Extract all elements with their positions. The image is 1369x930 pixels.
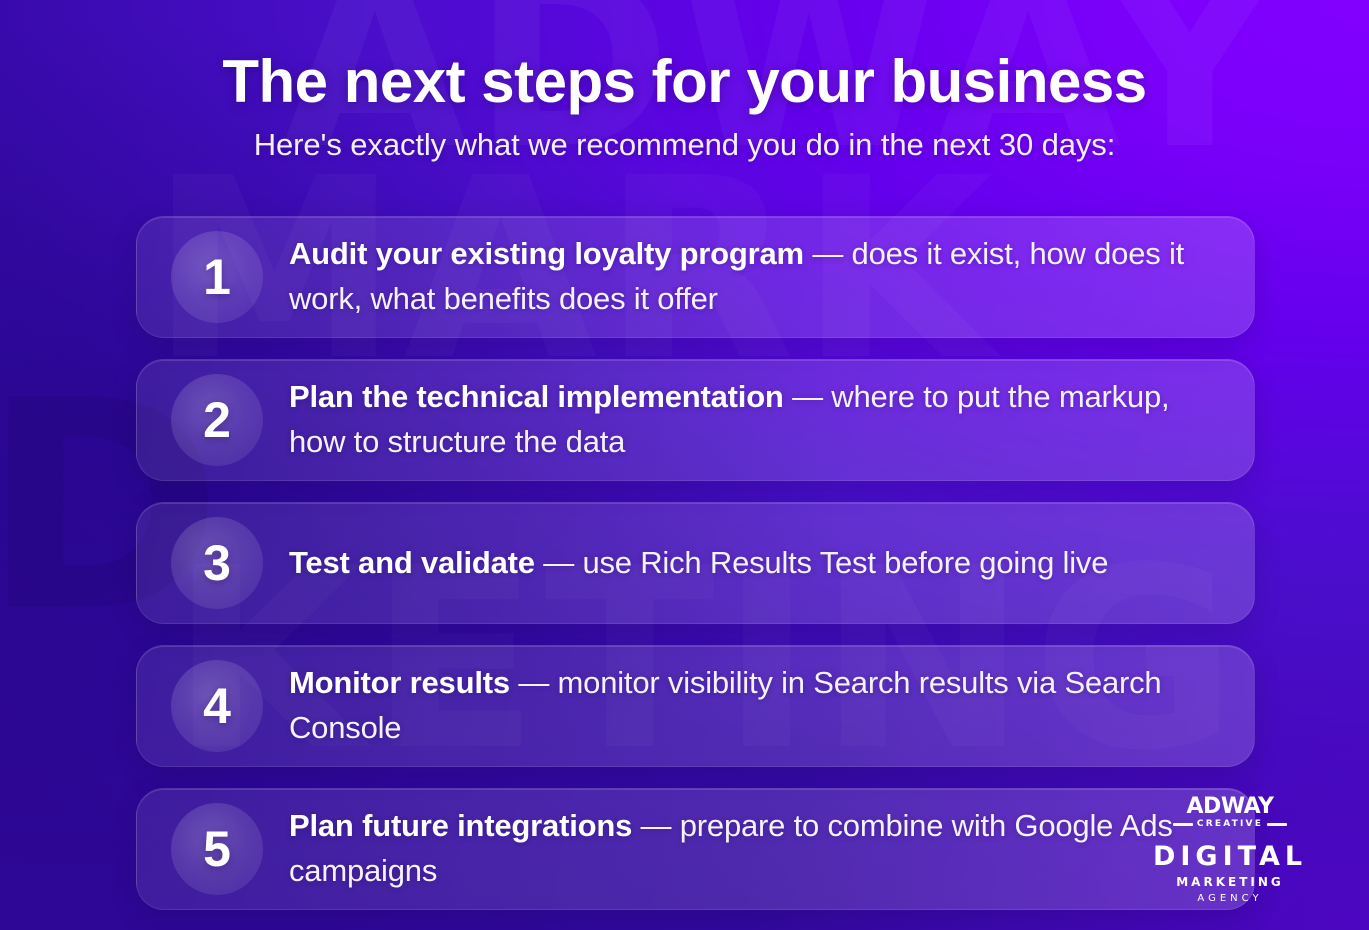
- step-number-3: 3: [203, 538, 231, 588]
- logo-line-digital: DIGITAL: [1143, 843, 1317, 870]
- step-card-2: 2 Plan the technical implementation — wh…: [136, 359, 1255, 481]
- slide-header: The next steps for your business Here's …: [0, 0, 1369, 163]
- step-text-3: Test and validate — use Rich Results Tes…: [289, 541, 1148, 586]
- step-number-4: 4: [203, 681, 231, 731]
- slide-root: ADWAY MARK D KETING The next steps for y…: [0, 0, 1369, 930]
- step-lead-1: Audit your existing loyalty program: [289, 236, 804, 271]
- logo-bar-left-icon: [1173, 823, 1193, 826]
- logo-line-agency: AGENCY: [1143, 894, 1317, 904]
- step-card-3: 3 Test and validate — use Rich Results T…: [136, 502, 1255, 624]
- step-text-4: Monitor results — monitor visibility in …: [289, 661, 1254, 750]
- step-number-badge-1: 1: [171, 231, 263, 323]
- logo-brand-name: ADWAY: [1143, 796, 1317, 818]
- page-title: The next steps for your business: [0, 50, 1369, 113]
- brand-logo: ADWAY CREATIVE DIGITAL MARKETING AGENCY: [1143, 796, 1317, 904]
- step-lead-5: Plan future integrations: [289, 808, 632, 843]
- step-number-badge-2: 2: [171, 374, 263, 466]
- logo-brand-sub-row: CREATIVE: [1143, 820, 1317, 829]
- step-lead-4: Monitor results: [289, 665, 510, 700]
- step-text-2: Plan the technical implementation — wher…: [289, 375, 1254, 464]
- step-number-1: 1: [203, 252, 231, 302]
- step-number-badge-3: 3: [171, 517, 263, 609]
- step-number-badge-4: 4: [171, 660, 263, 752]
- step-text-5: Plan future integrations — prepare to co…: [289, 804, 1254, 893]
- step-number-2: 2: [203, 395, 231, 445]
- step-card-4: 4 Monitor results — monitor visibility i…: [136, 645, 1255, 767]
- steps-list: 1 Audit your existing loyalty program — …: [136, 216, 1255, 910]
- step-number-5: 5: [203, 824, 231, 874]
- step-card-5: 5 Plan future integrations — prepare to …: [136, 788, 1255, 910]
- step-text-1: Audit your existing loyalty program — do…: [289, 232, 1254, 321]
- logo-line-marketing: MARKETING: [1143, 876, 1317, 888]
- step-lead-3: Test and validate: [289, 545, 535, 580]
- logo-bar-right-icon: [1267, 823, 1287, 826]
- step-lead-2: Plan the technical implementation: [289, 379, 784, 414]
- step-rest-3: — use Rich Results Test before going liv…: [535, 545, 1108, 580]
- step-number-badge-5: 5: [171, 803, 263, 895]
- logo-brand-sub: CREATIVE: [1197, 820, 1263, 829]
- page-subtitle: Here's exactly what we recommend you do …: [0, 127, 1369, 163]
- step-card-1: 1 Audit your existing loyalty program — …: [136, 216, 1255, 338]
